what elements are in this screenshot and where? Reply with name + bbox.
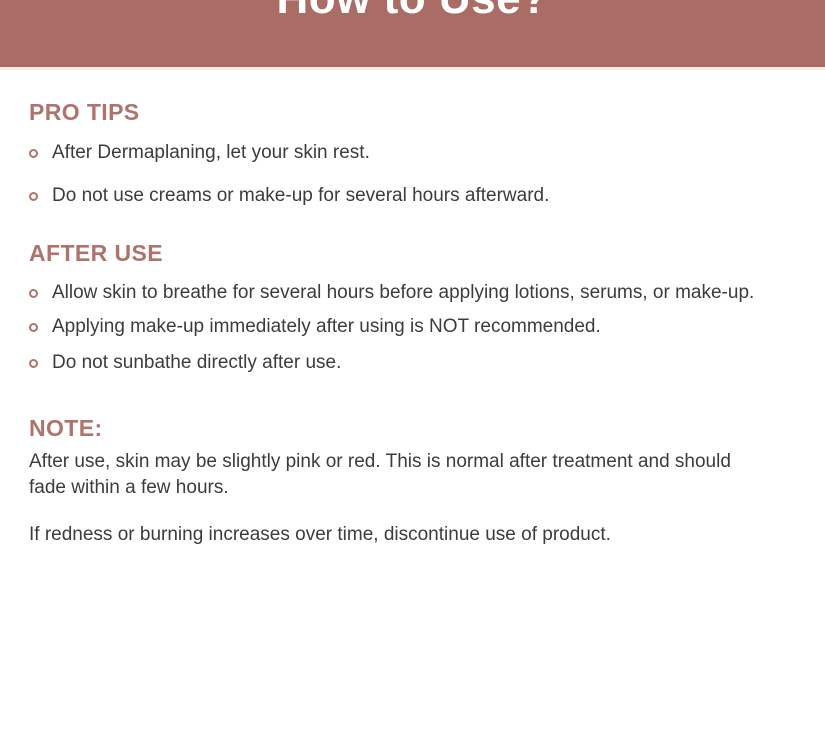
ring-bullet-icon bbox=[29, 149, 38, 158]
page-header-banner: How to Use? bbox=[0, 0, 825, 67]
content-area: PRO TIPS After Dermaplaning, let your sk… bbox=[0, 70, 825, 548]
section-heading-pro-tips: PRO TIPS bbox=[29, 70, 796, 126]
ring-bullet-icon bbox=[29, 192, 38, 201]
after-use-list: Allow skin to breathe for several hours … bbox=[29, 267, 796, 376]
list-item: After Dermaplaning, let your skin rest. bbox=[29, 140, 796, 166]
note-paragraph-primary: After use, skin may be slightly pink or … bbox=[29, 442, 741, 501]
ring-bullet-icon bbox=[29, 323, 38, 332]
list-item-label: After Dermaplaning, let your skin rest. bbox=[52, 140, 796, 166]
list-item-label: Do not use creams or make-up for several… bbox=[52, 183, 796, 209]
ring-bullet-icon bbox=[29, 289, 38, 298]
list-item: Applying make-up immediately after using… bbox=[29, 314, 796, 340]
list-item-label: Applying make-up immediately after using… bbox=[52, 314, 796, 340]
page-title: How to Use? bbox=[0, 0, 825, 25]
ring-bullet-icon bbox=[29, 359, 38, 368]
section-heading-after-use: AFTER USE bbox=[29, 209, 796, 267]
list-item: Do not use creams or make-up for several… bbox=[29, 183, 796, 209]
list-item-label: Allow skin to breathe for several hours … bbox=[52, 280, 796, 306]
list-item: Do not sunbathe directly after use. bbox=[29, 350, 796, 376]
note-paragraph-secondary: If redness or burning increases over tim… bbox=[29, 501, 741, 548]
list-item-label: Do not sunbathe directly after use. bbox=[52, 350, 796, 376]
list-item: Allow skin to breathe for several hours … bbox=[29, 280, 796, 306]
pro-tips-list: After Dermaplaning, let your skin rest. … bbox=[29, 126, 796, 209]
section-heading-note: NOTE: bbox=[29, 386, 796, 442]
